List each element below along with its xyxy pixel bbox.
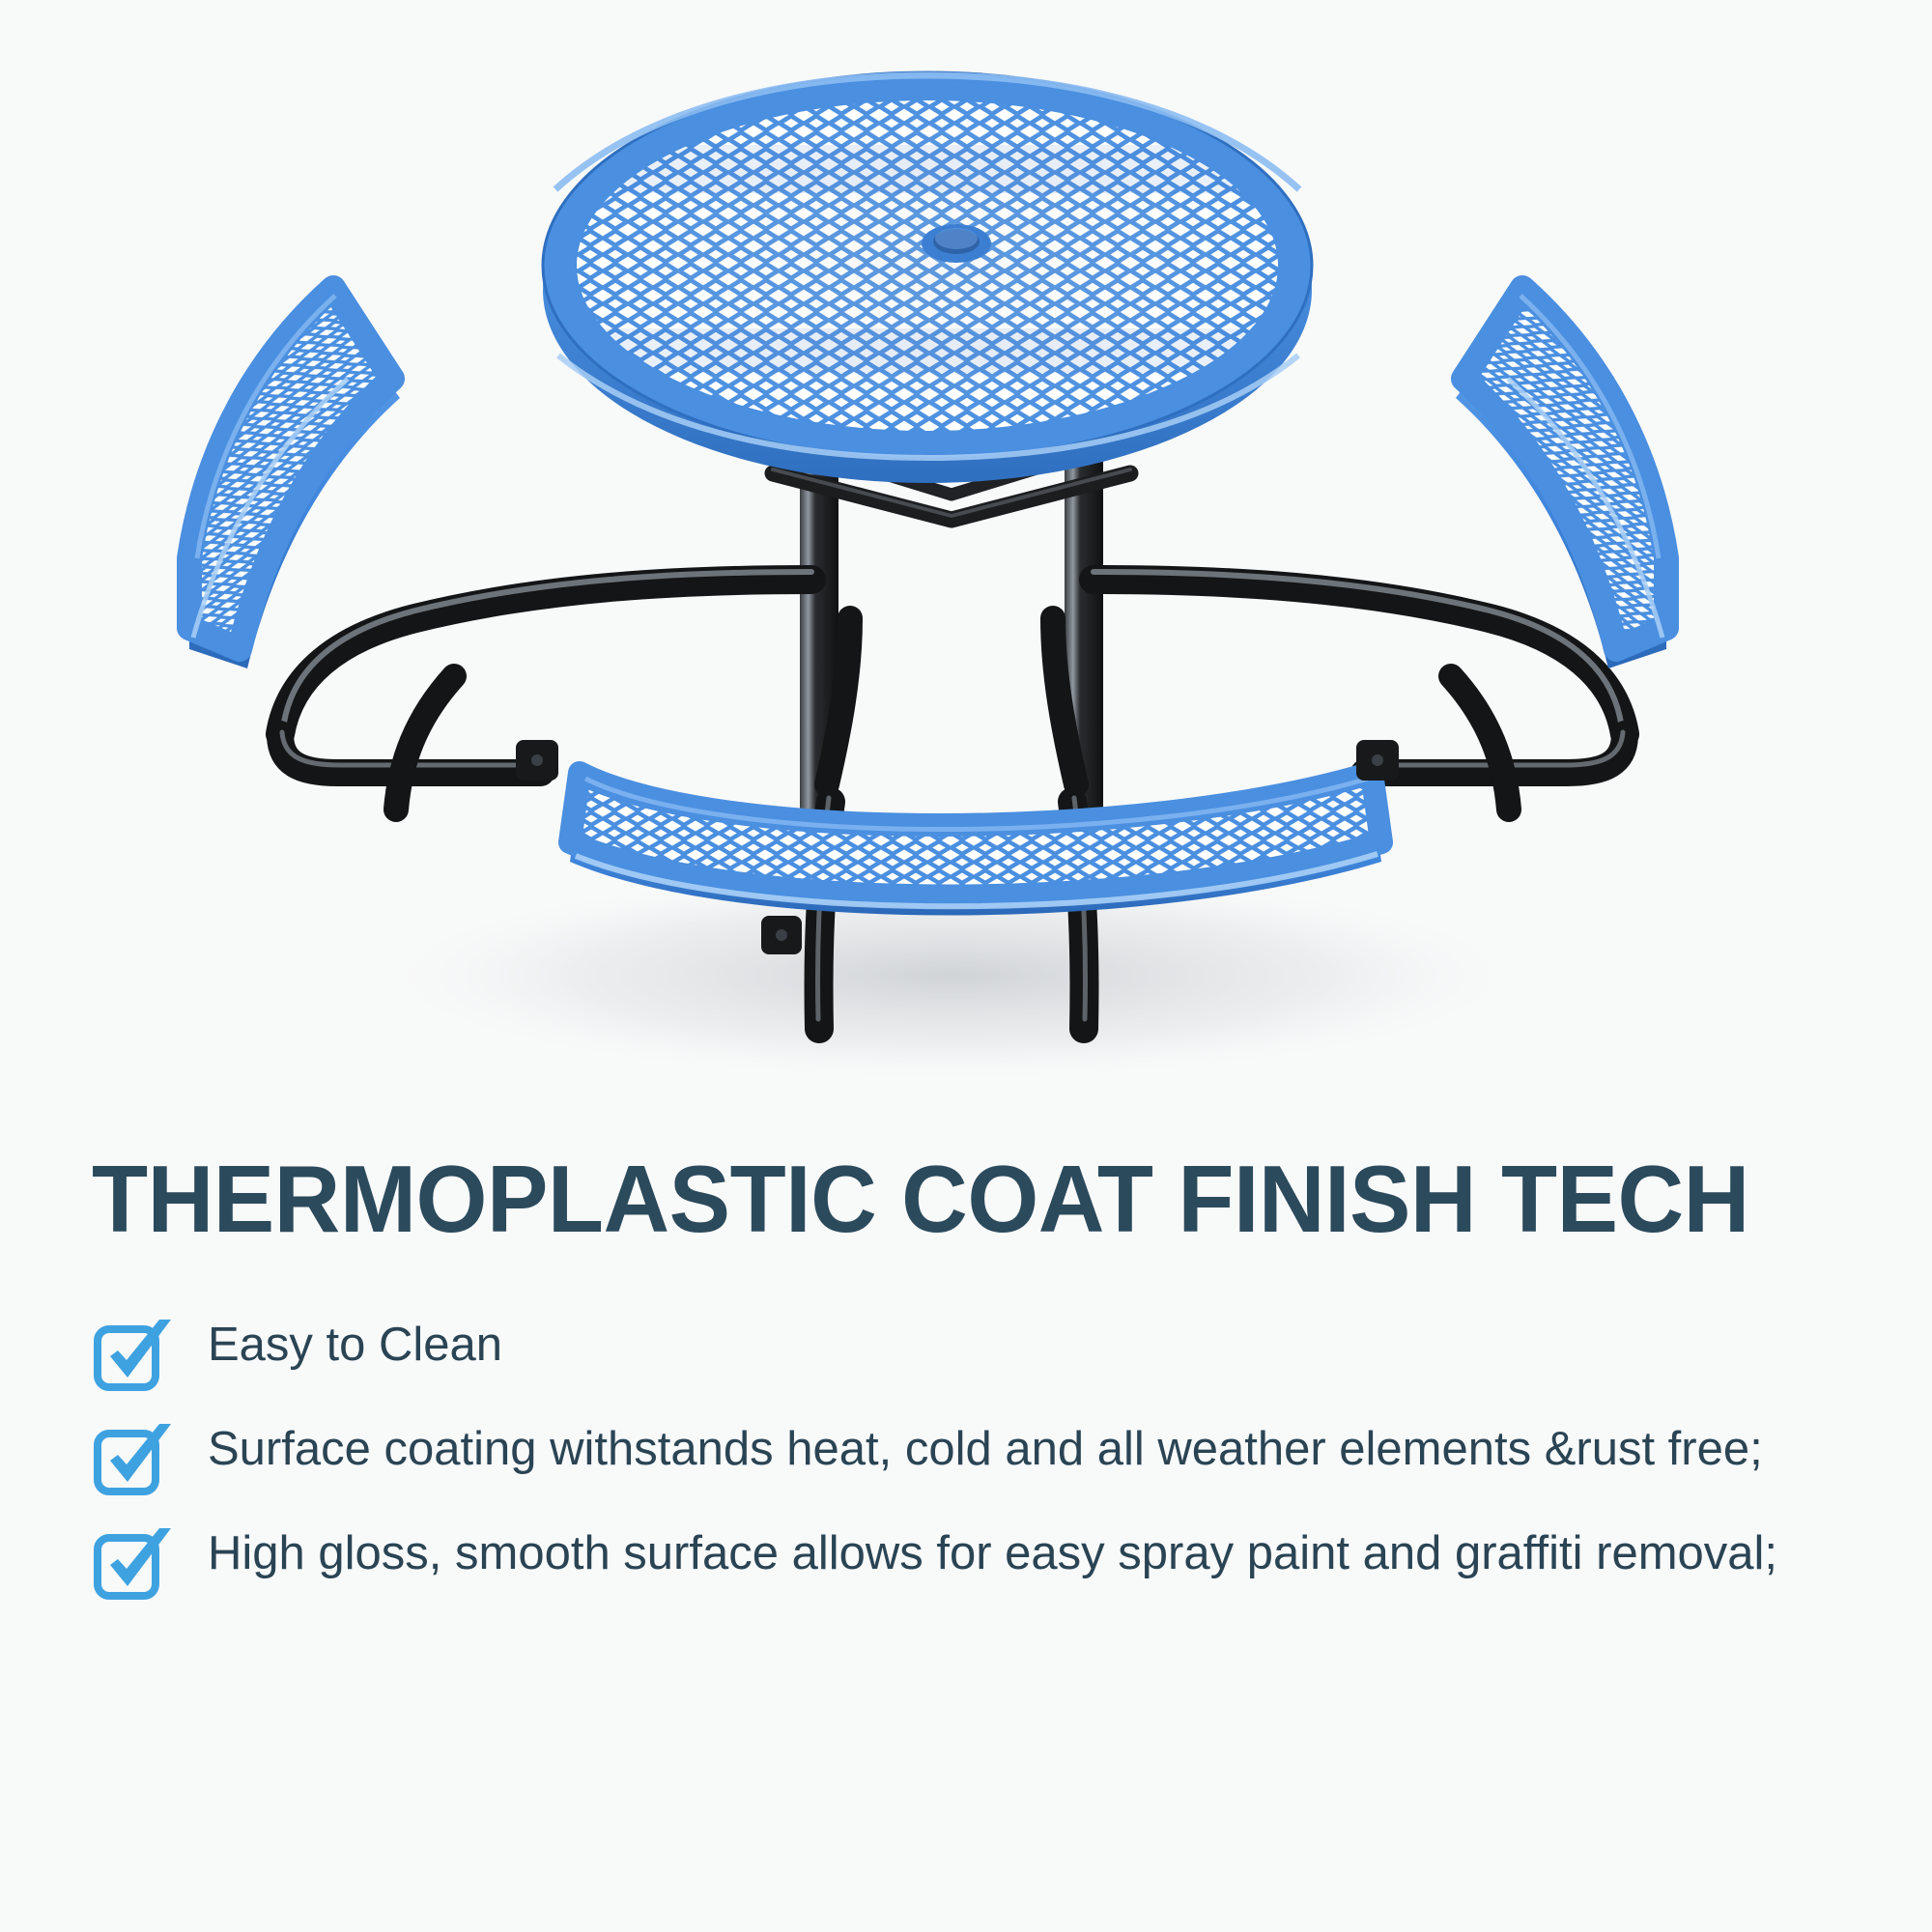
umbrella-hole [922, 224, 991, 263]
checkbox-checked-icon [92, 1422, 167, 1497]
list-item-label: High gloss, smooth surface allows for ea… [208, 1522, 1777, 1585]
list-item-label: Surface coating withstands heat, cold an… [208, 1418, 1763, 1481]
product-hero-image [0, 0, 1932, 1121]
feature-copy-block: THERMOPLASTIC COAT FINISH TECH Easy to C… [0, 1121, 1932, 1932]
list-item: Easy to Clean [92, 1314, 1860, 1393]
list-item: Surface coating withstands heat, cold an… [92, 1418, 1860, 1497]
table-top [541, 72, 1333, 483]
list-item-label: Easy to Clean [208, 1314, 502, 1377]
list-item: High gloss, smooth surface allows for ea… [92, 1522, 1860, 1602]
page-title: THERMOPLASTIC COAT FINISH TECH [92, 1150, 1749, 1249]
checkbox-checked-icon [92, 1526, 167, 1602]
feature-list: Easy to Clean Surface coating withstands… [92, 1314, 1860, 1627]
bench-seat-left [98, 233, 506, 708]
checkbox-checked-icon [92, 1318, 167, 1393]
product-feature-page: THERMOPLASTIC COAT FINISH TECH Easy to C… [0, 0, 1932, 1932]
